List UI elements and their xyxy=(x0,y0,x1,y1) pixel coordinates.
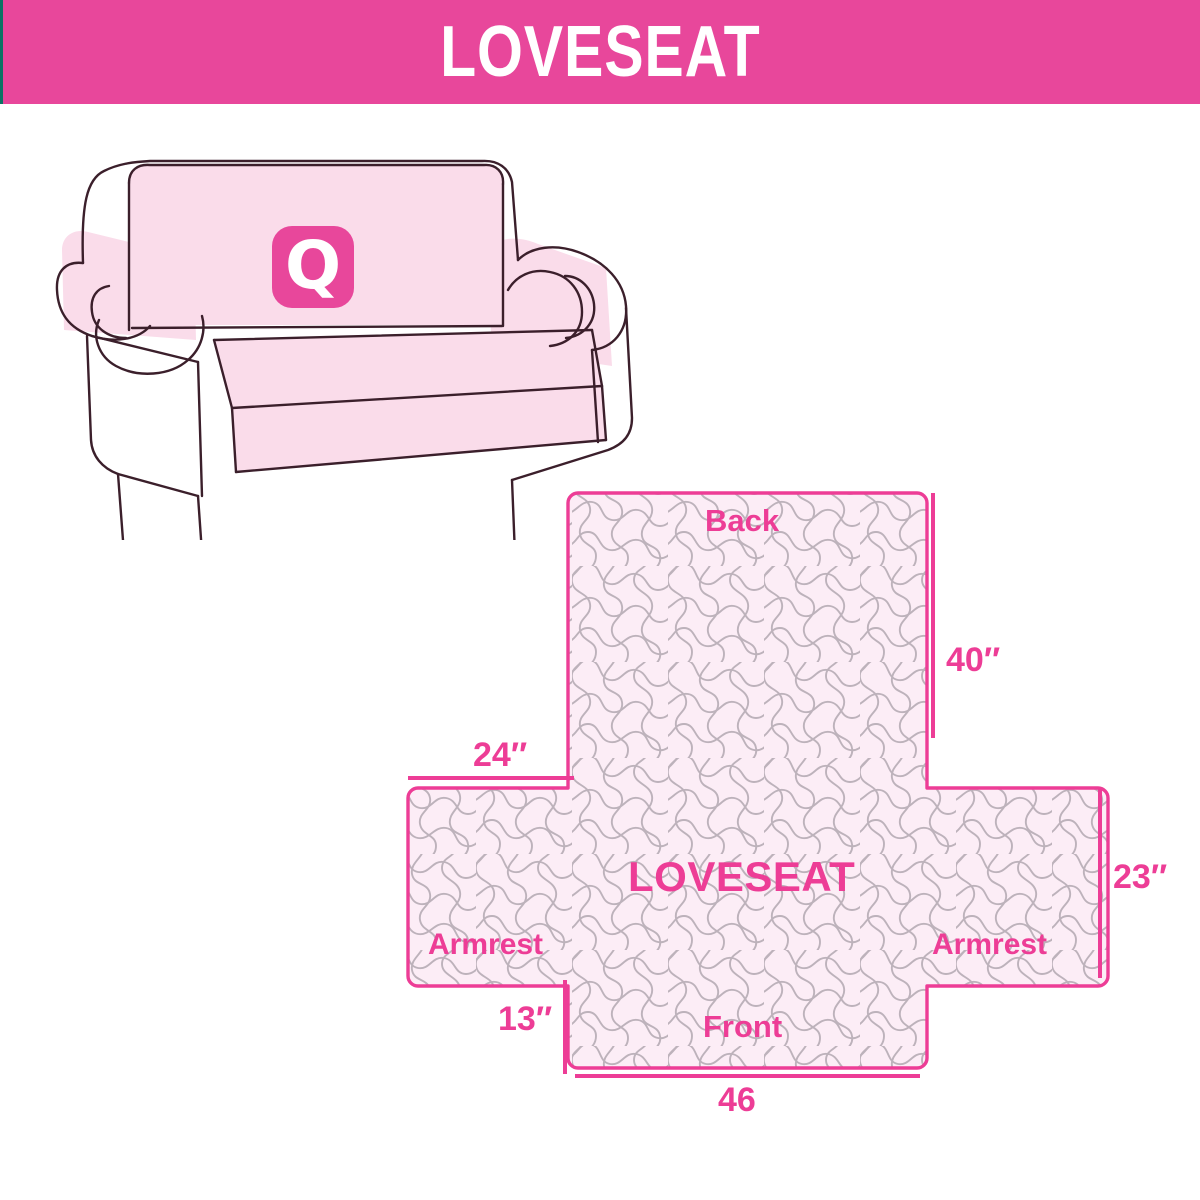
cover-diagram-svg xyxy=(380,470,1200,1150)
cover-outline-path xyxy=(408,493,1108,1068)
panel-label-armrest-right: Armrest xyxy=(932,928,1047,962)
panel-label-armrest-left: Armrest xyxy=(428,928,543,962)
page-root: LOVESEAT xyxy=(0,0,1200,1200)
dimension-rule-seat-depth xyxy=(1098,788,1102,978)
panel-label-front: Front xyxy=(703,1009,782,1045)
cover-center-label: LOVESEAT xyxy=(628,853,855,901)
logo-letter: Q xyxy=(285,233,341,299)
dimension-value-back-height: 40″ xyxy=(946,641,1000,680)
dimension-rule-overall-width xyxy=(575,1074,920,1078)
page-title: LOVESEAT xyxy=(440,16,760,88)
dimension-rule-front-drop xyxy=(563,980,567,1074)
dimension-value-armrest-width: 24″ xyxy=(473,736,527,775)
dimension-value-seat-depth: 23″ xyxy=(1113,858,1167,897)
dimension-value-overall-width: 46 xyxy=(718,1081,756,1120)
brand-logo-badge: Q xyxy=(272,226,354,308)
dimension-rule-back-height xyxy=(931,493,935,738)
left-edge-strip xyxy=(0,0,3,104)
header-banner: LOVESEAT xyxy=(0,0,1200,104)
panel-label-back: Back xyxy=(705,503,779,539)
cover-diagram xyxy=(380,470,1200,1150)
dimension-value-front-drop: 13″ xyxy=(498,1000,552,1039)
dimension-rule-armrest-width xyxy=(408,776,574,780)
